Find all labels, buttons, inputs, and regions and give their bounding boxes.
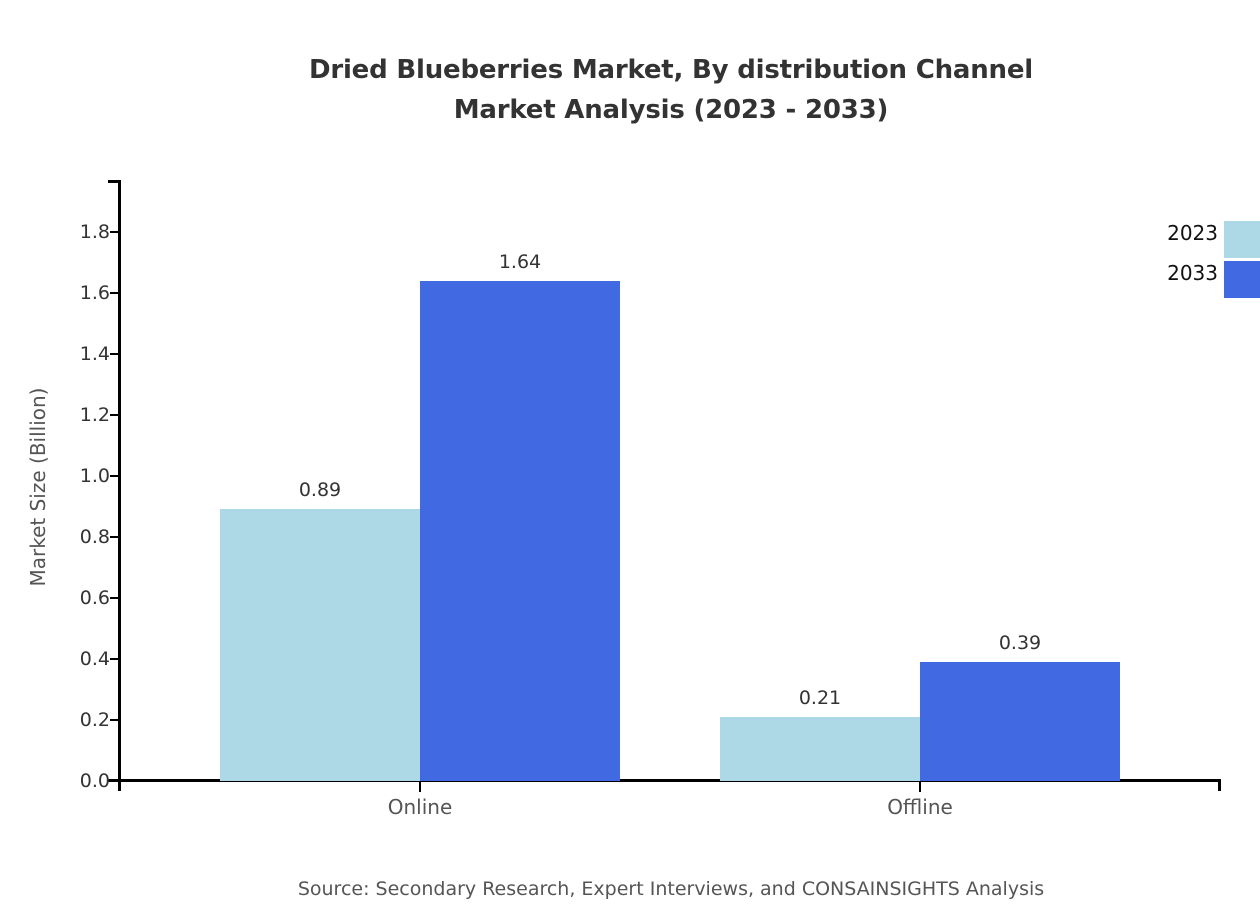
- y-tick-mark: [110, 353, 120, 355]
- chart-title: Dried Blueberries Market, By distributio…: [0, 50, 1260, 130]
- bar-online-2023[interactable]: [220, 509, 420, 781]
- y-axis-line: [118, 180, 121, 791]
- bar-value-label-online-2023: 0.89: [200, 479, 440, 501]
- source-note: Source: Secondary Research, Expert Inter…: [0, 878, 1260, 900]
- bar-value-label-online-2033: 1.64: [400, 251, 640, 273]
- chart-title-line-1: Dried Blueberries Market, By distributio…: [309, 55, 1033, 85]
- legend-swatch-2023: [1224, 221, 1260, 258]
- x-tick-label-online: Online: [300, 795, 540, 819]
- bar-offline-2033[interactable]: [920, 662, 1120, 781]
- y-tick-label: 0.2: [30, 709, 110, 731]
- y-tick-mark: [110, 780, 120, 782]
- y-tick-mark: [110, 536, 120, 538]
- bar-offline-2023[interactable]: [720, 717, 920, 781]
- legend-label-2023: 2023: [1167, 221, 1218, 245]
- x-tick-mark: [919, 781, 921, 792]
- y-tick-label: 0.4: [30, 648, 110, 670]
- legend-swatch-2033: [1224, 261, 1260, 298]
- bar-online-2033[interactable]: [420, 281, 620, 781]
- x-tick-mark: [419, 781, 421, 792]
- legend-item-2033[interactable]: 2033: [1135, 258, 1260, 298]
- y-tick-mark: [110, 597, 120, 599]
- y-axis-top-cap: [108, 180, 120, 183]
- legend-item-2023[interactable]: 2023: [1135, 218, 1260, 258]
- y-tick-label: 1.0: [30, 465, 110, 487]
- chart-title-line-2: Market Analysis (2023 - 2033): [0, 90, 1260, 130]
- y-tick-label: 0.6: [30, 587, 110, 609]
- bar-value-label-offline-2023: 0.21: [700, 687, 940, 709]
- y-tick-mark: [110, 292, 120, 294]
- y-tick-label: 1.4: [30, 343, 110, 365]
- y-tick-mark: [110, 414, 120, 416]
- chart-legend: 2023 2033: [1135, 218, 1260, 298]
- y-tick-mark: [110, 475, 120, 477]
- x-tick-label-offline: Offline: [800, 795, 1040, 819]
- y-tick-label: 1.6: [30, 282, 110, 304]
- y-tick-mark: [110, 231, 120, 233]
- y-tick-mark: [110, 658, 120, 660]
- y-tick-mark: [110, 719, 120, 721]
- bar-value-label-offline-2033: 0.39: [900, 632, 1140, 654]
- y-tick-label: 0.0: [30, 770, 110, 792]
- y-tick-label: 0.8: [30, 526, 110, 548]
- plot-area: 0.00.20.40.60.81.01.21.41.61.8 0.891.640…: [120, 180, 1221, 781]
- x-axis-right-cap: [1218, 779, 1221, 791]
- y-tick-label: 1.8: [30, 221, 110, 243]
- y-tick-label: 1.2: [30, 404, 110, 426]
- legend-label-2033: 2033: [1167, 261, 1218, 285]
